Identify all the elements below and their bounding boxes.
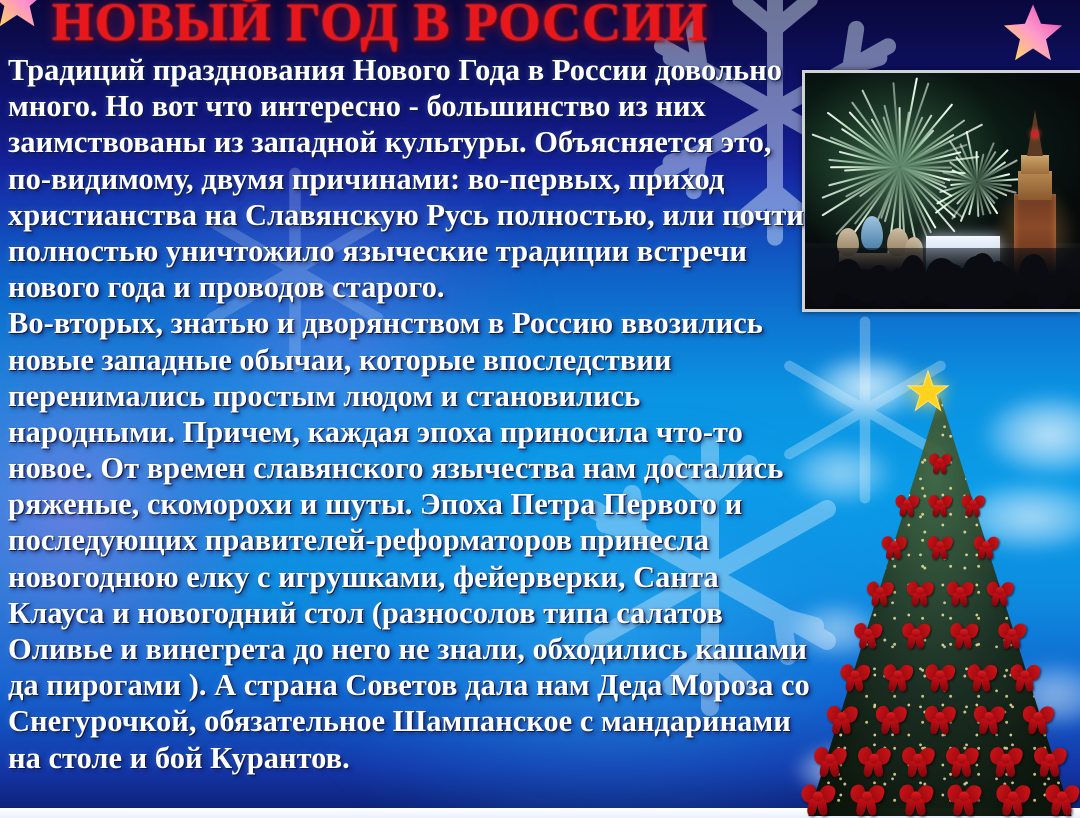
tree-bow bbox=[974, 707, 1004, 733]
tree-bow bbox=[1034, 748, 1066, 775]
body-line: полностью уничтожило языческие традиции … bbox=[8, 233, 808, 269]
crowd-silhouette bbox=[941, 262, 958, 286]
star-icon bbox=[0, 0, 50, 30]
tree-bow bbox=[996, 785, 1029, 813]
body-line: да пирогами ). А страна Советов дала нам… bbox=[8, 667, 808, 703]
tree-bow bbox=[986, 582, 1012, 604]
tree-bow bbox=[973, 537, 998, 558]
body-line: последующих правителей-реформаторов прин… bbox=[8, 522, 808, 558]
page-title: НОВЫЙ ГОД В РОССИИ bbox=[0, 0, 760, 53]
body-line: Традиций празднования Нового Года в Росс… bbox=[8, 52, 808, 88]
body-line: Снегурочкой, обязательное Шампанское с м… bbox=[8, 703, 808, 739]
tree-bow bbox=[895, 495, 918, 515]
tree-bow bbox=[1045, 785, 1078, 813]
body-line: христианства на Славянскую Русь полность… bbox=[8, 197, 808, 233]
tree-bow bbox=[946, 748, 978, 775]
tree-bow bbox=[827, 707, 857, 733]
tree-bow bbox=[925, 707, 955, 733]
tree-bow bbox=[928, 537, 953, 558]
star-icon bbox=[998, 2, 1068, 64]
tree-bow bbox=[907, 582, 933, 604]
tree-bow bbox=[961, 495, 984, 515]
tree-bow bbox=[850, 785, 883, 813]
tree-bow bbox=[948, 785, 981, 813]
christmas-tree bbox=[800, 368, 1080, 818]
body-line: перенимались простым людом и становились bbox=[8, 378, 808, 414]
tree-bow bbox=[929, 454, 951, 472]
body-line: Оливье и винегрета до него не знали, обх… bbox=[8, 631, 808, 667]
crowd-silhouette bbox=[956, 266, 985, 295]
body-line: новое. От времен славянского язычества н… bbox=[8, 450, 808, 486]
body-line: заимствованы из западной культуры. Объяс… bbox=[8, 124, 808, 160]
crowd-silhouette bbox=[1038, 286, 1062, 309]
tree-bow bbox=[950, 624, 978, 647]
tree-bow bbox=[968, 665, 997, 690]
crowd-silhouette bbox=[906, 284, 916, 304]
tree-bow bbox=[814, 748, 846, 775]
body-line: новые западные обычаи, которые впоследст… bbox=[8, 342, 808, 378]
tree-bow bbox=[1022, 707, 1052, 733]
red-square-fireworks-photo bbox=[802, 70, 1080, 312]
tree-bow bbox=[867, 582, 893, 604]
body-line: новогоднюю елку с игрушками, фейерверки,… bbox=[8, 559, 808, 595]
tree-bow bbox=[1010, 665, 1039, 690]
tree-bow bbox=[947, 582, 973, 604]
photo-inner bbox=[805, 73, 1080, 309]
body-line: Клауса и новогодний стол (разносолов тип… bbox=[8, 595, 808, 631]
body-line: на столе и бой Курантов. bbox=[8, 740, 808, 776]
tree-bow bbox=[883, 665, 912, 690]
tree-bow bbox=[902, 624, 930, 647]
body-line: много. Но вот что интересно - большинств… bbox=[8, 88, 808, 124]
tree-bow bbox=[998, 624, 1026, 647]
body-paragraph: Традиций празднования Нового Года в Росс… bbox=[8, 52, 808, 776]
tree-bow bbox=[841, 665, 870, 690]
tree-bow bbox=[990, 748, 1022, 775]
crowd-silhouette bbox=[868, 265, 890, 296]
tree-bow bbox=[854, 624, 882, 647]
crowd-silhouette bbox=[1025, 268, 1040, 295]
tree-bow bbox=[925, 665, 954, 690]
crowd-silhouette bbox=[1058, 268, 1068, 289]
tree-bow bbox=[882, 537, 907, 558]
tree-bow bbox=[876, 707, 906, 733]
tree-bow bbox=[902, 748, 934, 775]
body-line: Во-вторых, знатью и дворянством в Россию… bbox=[8, 305, 808, 341]
body-line: ряженые, скоморохи и шуты. Эпоха Петра П… bbox=[8, 486, 808, 522]
body-line: по-видимому, двумя причинами: во-первых,… bbox=[8, 161, 808, 197]
crowd-silhouette bbox=[988, 261, 1009, 292]
crowd-silhouette bbox=[809, 268, 836, 307]
tree-bow bbox=[928, 495, 951, 515]
tree-bow bbox=[899, 785, 932, 813]
body-line: народными. Причем, каждая эпоха приносил… bbox=[8, 414, 808, 450]
tree-bow bbox=[802, 785, 835, 813]
slide-canvas: НОВЫЙ ГОД В РОССИИ bbox=[0, 0, 1080, 818]
body-line: нового года и проводов старого. bbox=[8, 269, 808, 305]
tree-bow bbox=[858, 748, 890, 775]
crowd bbox=[805, 248, 1080, 309]
tree-top-star-icon bbox=[906, 370, 950, 414]
